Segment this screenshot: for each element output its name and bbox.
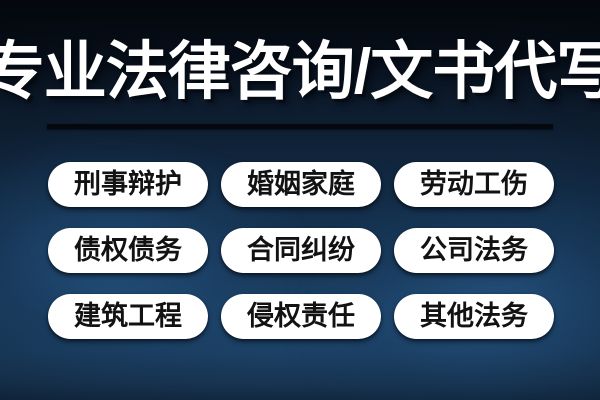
service-pill-label: 婚姻家庭 [247, 171, 355, 198]
banner-content: 专业法律咨询/文书代写 刑事辩护 婚姻家庭 劳动工伤 债权债务 合同纠纷 公司法… [0, 0, 600, 400]
service-pill[interactable]: 公司法务 [394, 228, 554, 273]
headline-title: 专业法律咨询/文书代写 [44, 26, 556, 118]
service-pill-label: 建筑工程 [74, 303, 182, 330]
service-pill[interactable]: 建筑工程 [48, 294, 208, 339]
service-pill[interactable]: 刑事辩护 [48, 162, 208, 207]
service-pill[interactable]: 债权债务 [48, 228, 208, 273]
service-pill-label: 公司法务 [420, 237, 528, 264]
service-pill[interactable]: 合同纠纷 [221, 228, 381, 273]
divider-rule [47, 124, 553, 129]
service-pill-label: 侵权责任 [247, 303, 355, 330]
service-pill[interactable]: 婚姻家庭 [221, 162, 381, 207]
service-pill-label: 其他法务 [420, 303, 528, 330]
service-pill-label: 刑事辩护 [74, 171, 182, 198]
service-pill-grid: 刑事辩护 婚姻家庭 劳动工伤 债权债务 合同纠纷 公司法务 建筑工程 侵权责任 [48, 162, 554, 339]
service-pill[interactable]: 侵权责任 [221, 294, 381, 339]
service-pill[interactable]: 其他法务 [394, 294, 554, 339]
service-pill-label: 债权债务 [74, 237, 182, 264]
promo-banner: 专业法律咨询/文书代写 刑事辩护 婚姻家庭 劳动工伤 债权债务 合同纠纷 公司法… [0, 0, 600, 400]
service-pill-label: 合同纠纷 [247, 237, 355, 264]
service-pill[interactable]: 劳动工伤 [394, 162, 554, 207]
service-pill-label: 劳动工伤 [420, 171, 528, 198]
